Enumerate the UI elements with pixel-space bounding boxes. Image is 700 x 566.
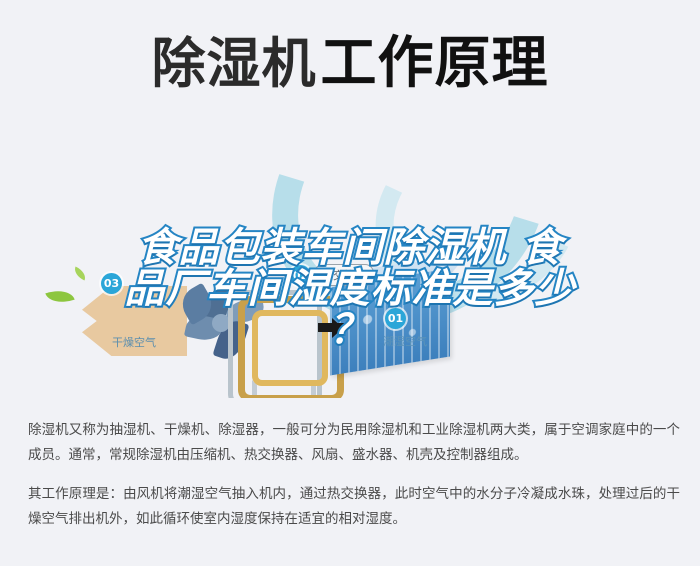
page-title: 除湿机 工作原理 [0,24,700,104]
article-body: 除湿机又称为抽湿机、干燥机、除湿器，一般可分为民用除湿机和工业除湿机两大类，属于… [28,418,680,546]
badge-01-humid-air: 01 [385,308,406,329]
leaf-icon [45,285,74,307]
dry-air-label: 干燥空气 [112,334,156,350]
humid-air-label: 潮湿空气 [383,333,427,349]
badge-02-heat-exchanger: 02 [290,265,311,286]
page-title-part2: 工作原理 [321,36,549,92]
airflow-arrow-icon [318,323,344,332]
body-paragraph-2: 其工作原理是：由风机将潮湿空气抽入机内，通过热交换器，此时空气中的水分子冷凝成水… [28,482,680,532]
dehumidifier-diagram: 水箱 03 02 01 热交换器 干燥空气 潮湿空气 02 潮湿空气经过蒸发器冷… [0,118,700,398]
page-title-part1: 除湿机 [152,37,317,91]
badge-03-dry-air: 03 [101,273,122,294]
heat-exchanger-callout-bubble: 热交换器 [314,264,374,286]
poster-page: 除湿机 工作原理 水箱 [0,0,700,566]
copper-coil-inner-icon [252,310,328,386]
body-paragraph-1: 除湿机又称为抽湿机、干燥机、除湿器，一般可分为民用除湿机和工业除湿机两大类，属于… [28,418,680,468]
leaf-icon [72,266,88,280]
